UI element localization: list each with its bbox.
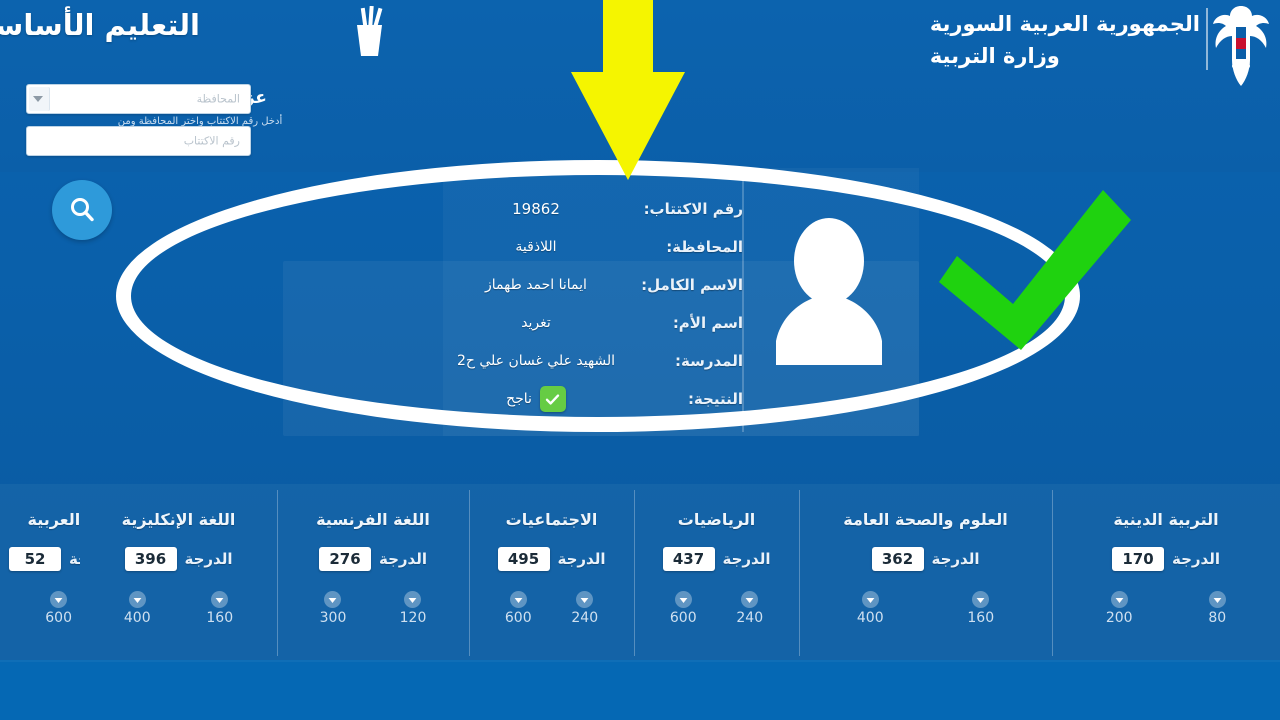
ministry-name: وزارة التربية [930, 42, 1200, 70]
grade-value: 396 [125, 547, 177, 571]
min-score: 160 [967, 591, 994, 626]
min-value: 240 [571, 610, 598, 626]
minmax-row: 600 [0, 591, 80, 626]
max-score: 400 [857, 591, 884, 626]
min-value: 160 [967, 610, 994, 626]
grade-line: الدرجة 362 [872, 547, 980, 571]
min-score: 120 [400, 591, 427, 626]
max-value: 200 [1106, 610, 1133, 626]
max-score: 200 [1106, 591, 1133, 626]
subject-name: اللغة الفرنسية [316, 510, 430, 529]
max-score: 300 [320, 591, 347, 626]
minmax-row: 300 120 [277, 591, 469, 626]
grade-value: 52 [9, 547, 61, 571]
search-button[interactable] [52, 180, 112, 240]
max-marker-icon [324, 591, 341, 608]
grade-line: الدرجة 396 [125, 547, 233, 571]
header-divider [1206, 8, 1208, 70]
grade-label: الدرجة [723, 550, 771, 568]
min-value: 160 [206, 610, 233, 626]
subject-name: الرياضيات [678, 510, 756, 529]
max-value: 600 [670, 610, 697, 626]
governorate-placeholder: المحافظة [197, 93, 240, 106]
search-icon [67, 195, 97, 225]
grade-value: 437 [663, 547, 715, 571]
min-score: 80 [1208, 591, 1226, 626]
grade-label: الدرجة [69, 550, 80, 568]
min-score: 240 [736, 591, 763, 626]
min-value: 120 [400, 610, 427, 626]
grade-label: الدرجة [379, 550, 427, 568]
down-arrow-annotation [565, 0, 691, 186]
max-score: 600 [670, 591, 697, 626]
min-value: 240 [736, 610, 763, 626]
min-marker-icon [741, 591, 758, 608]
result-page: التعليم الأساسي 2024 الجمهورية العربية ا… [0, 0, 1280, 720]
min-marker-icon [972, 591, 989, 608]
max-value: 400 [124, 610, 151, 626]
max-value: 600 [45, 610, 72, 626]
minmax-row: 200 80 [1052, 591, 1280, 626]
grade-line: الدرجة 495 [498, 547, 606, 571]
grade-label: الدرجة [1172, 550, 1220, 568]
subject-name: اللغة العربية [27, 510, 80, 529]
governorate-select[interactable]: المحافظة [26, 84, 251, 114]
grade-value: 495 [498, 547, 550, 571]
min-marker-icon [576, 591, 593, 608]
min-marker-icon [404, 591, 421, 608]
min-marker-icon [1209, 591, 1226, 608]
max-marker-icon [675, 591, 692, 608]
grade-line: الدرجة 170 [1112, 547, 1220, 571]
grade-label: الدرجة [185, 550, 233, 568]
grade-value: 170 [1112, 547, 1164, 571]
grade-value: 362 [872, 547, 924, 571]
page-title: التعليم الأساسي 2024 [0, 8, 200, 42]
bottom-band [0, 660, 1280, 720]
max-score: 400 [124, 591, 151, 626]
max-marker-icon [129, 591, 146, 608]
subject-name: العلوم والصحة العامة [843, 510, 1008, 529]
chevron-down-icon [33, 96, 43, 102]
max-marker-icon [510, 591, 527, 608]
subject-card[interactable]: الاجتماعيات الدرجة 495 600 240 [469, 484, 634, 662]
subject-card[interactable]: اللغة الفرنسية الدرجة 276 300 120 [277, 484, 469, 662]
subject-name: التربية الدينية [1113, 510, 1218, 529]
max-marker-icon [50, 591, 67, 608]
min-score: 240 [571, 591, 598, 626]
seat-number-input[interactable]: رقم الاكتتاب [26, 126, 251, 156]
max-score: 600 [45, 591, 72, 626]
grade-label: الدرجة [932, 550, 980, 568]
grade-value: 276 [319, 547, 371, 571]
max-marker-icon [1111, 591, 1128, 608]
syrian-eagle-emblem-icon [1210, 2, 1272, 88]
grade-line: الدرجة 437 [663, 547, 771, 571]
subject-card[interactable]: اللغة الإنكليزية الدرجة 396 400 160 [80, 484, 277, 662]
seat-number-placeholder: رقم الاكتتاب [184, 135, 240, 148]
max-value: 300 [320, 610, 347, 626]
subject-cards: التربية الدينية الدرجة 170 200 80 [0, 484, 1280, 662]
max-value: 400 [857, 610, 884, 626]
subject-card[interactable]: اللغة العربية الدرجة 52 600 [0, 484, 80, 662]
minmax-row: 400 160 [80, 591, 277, 626]
grade-line: الدرجة 276 [319, 547, 427, 571]
subject-card[interactable]: الرياضيات الدرجة 437 600 240 [634, 484, 799, 662]
ministry-header: الجمهورية العربية السورية وزارة التربية [930, 10, 1200, 71]
minmax-row: 600 240 [634, 591, 799, 626]
max-score: 600 [505, 591, 532, 626]
minmax-row: 400 160 [799, 591, 1052, 626]
min-score: 160 [206, 591, 233, 626]
grade-line: الدرجة 52 [9, 547, 80, 571]
subject-card[interactable]: العلوم والصحة العامة الدرجة 362 400 160 [799, 484, 1052, 662]
subject-name: اللغة الإنكليزية [122, 510, 236, 529]
subject-name: الاجتماعيات [506, 510, 598, 529]
min-marker-icon [211, 591, 228, 608]
minmax-row: 600 240 [469, 591, 634, 626]
min-value: 80 [1208, 610, 1226, 626]
subject-card[interactable]: التربية الدينية الدرجة 170 200 80 [1052, 484, 1280, 662]
green-check-annotation [935, 186, 1135, 354]
grade-label: الدرجة [558, 550, 606, 568]
max-marker-icon [862, 591, 879, 608]
max-value: 600 [505, 610, 532, 626]
ministry-country: الجمهورية العربية السورية [930, 10, 1200, 38]
pencil-cup-icon [348, 6, 390, 58]
